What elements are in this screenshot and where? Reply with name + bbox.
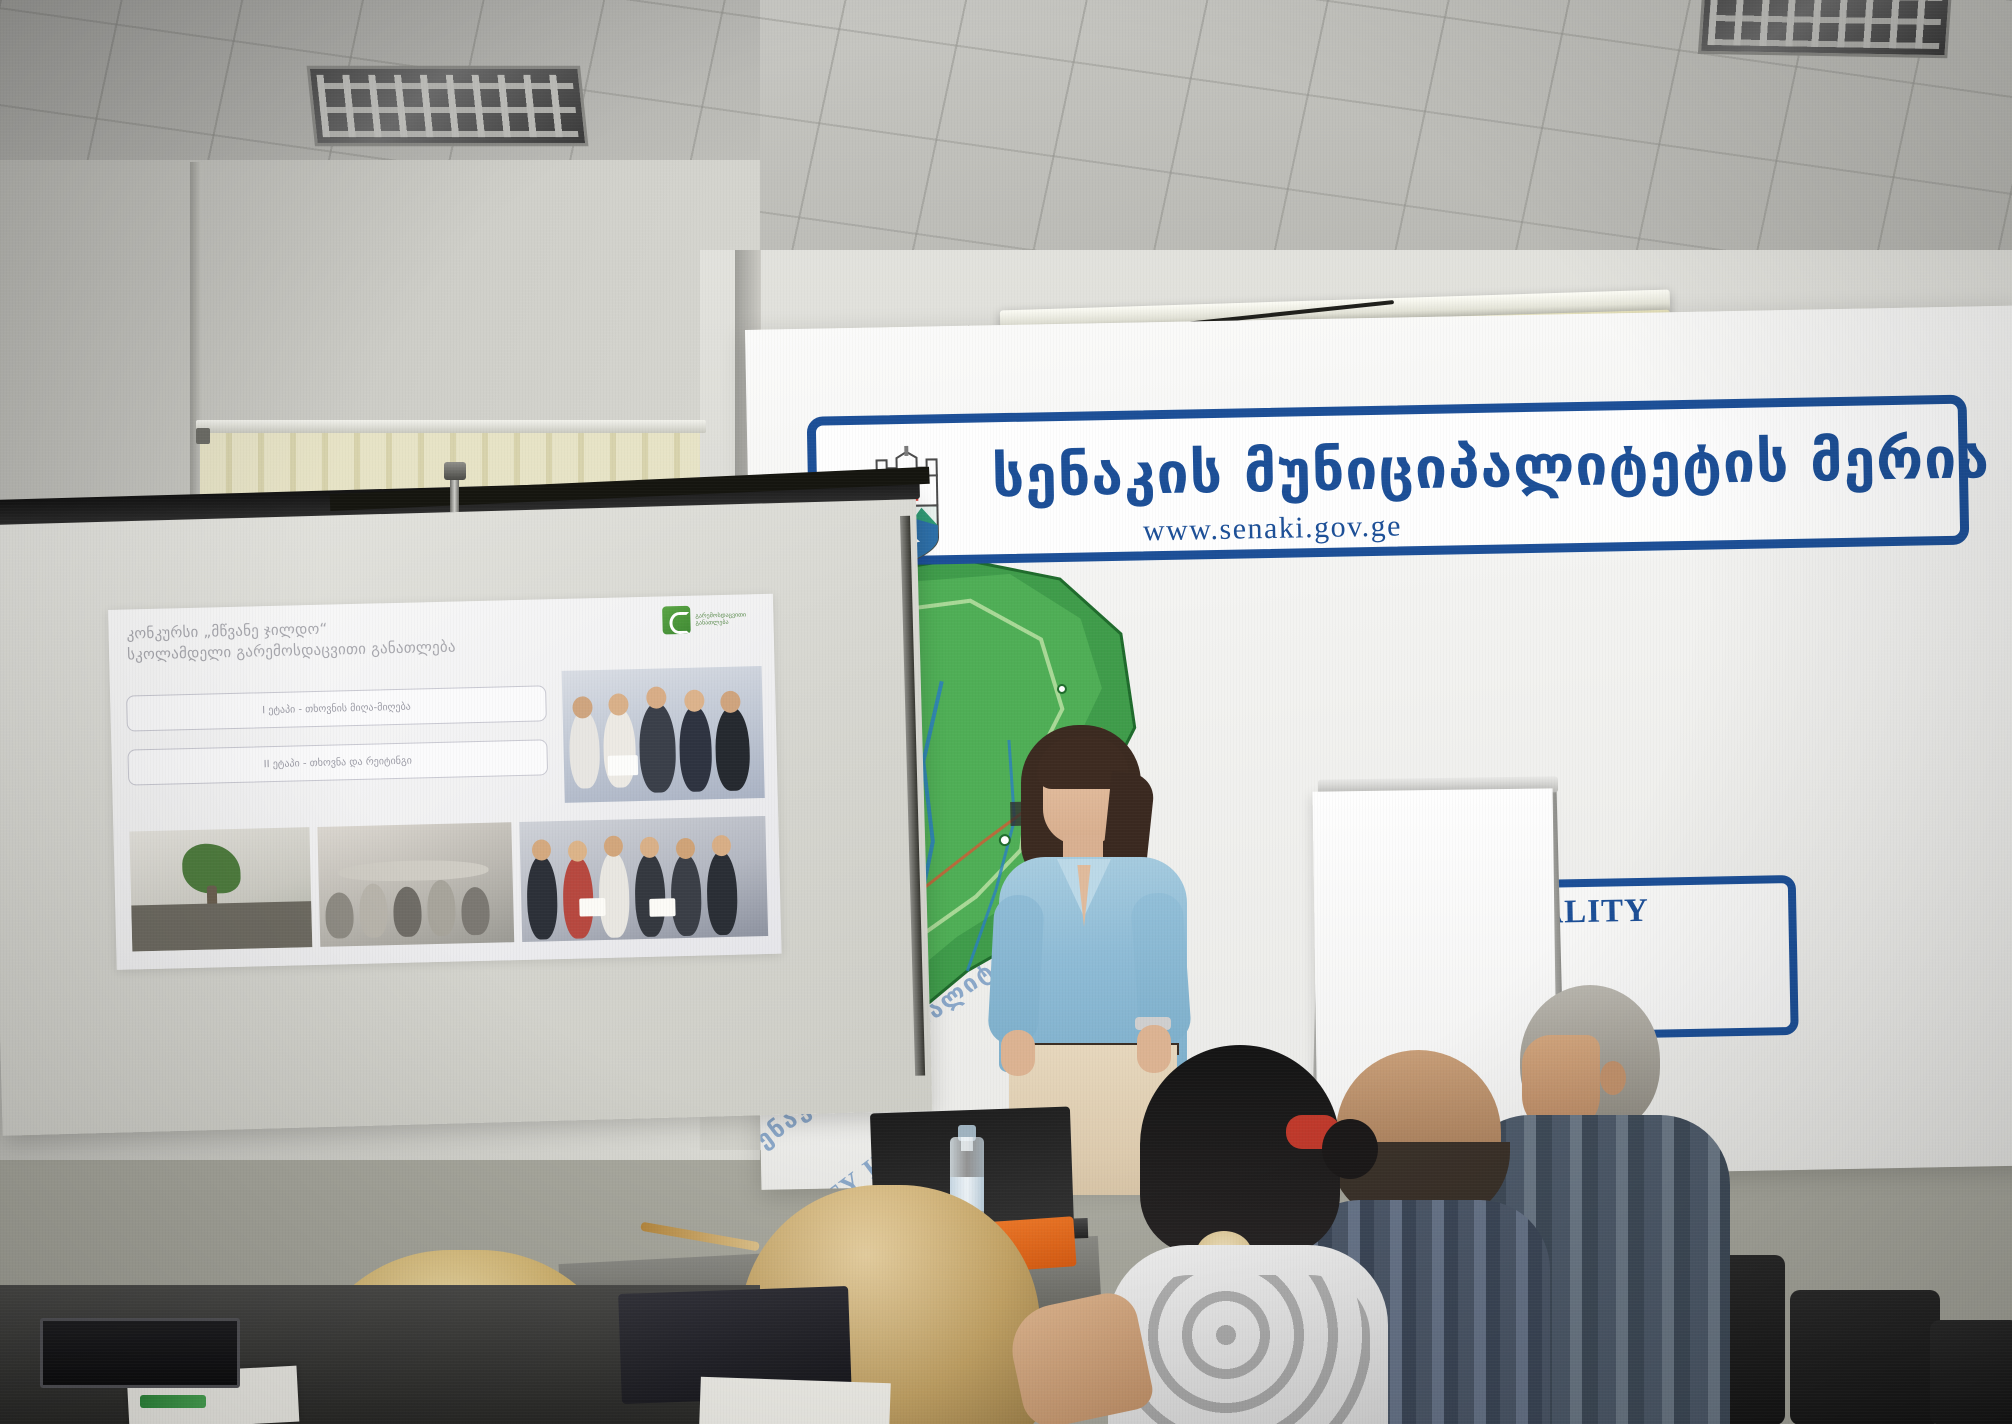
slide-photo-office-plant bbox=[129, 827, 312, 951]
projection-screen-pole-cap bbox=[444, 462, 466, 480]
banner-url: www.senaki.gov.ge bbox=[1143, 509, 1403, 548]
slide-photo-audience-hall bbox=[317, 822, 514, 947]
dark-woman-hair bbox=[1140, 1045, 1340, 1255]
monitor-edge bbox=[40, 1318, 240, 1388]
slide-stage-box-1-label: I ეტაპი - თხოვნის მიღა-მიღება bbox=[262, 701, 411, 716]
slide-photo-certificate-group bbox=[519, 816, 768, 942]
ceiling-light-panel-right bbox=[1698, 0, 1952, 58]
dark-woman-top-pattern bbox=[1130, 1275, 1370, 1424]
blinds-rail bbox=[196, 420, 706, 433]
banner-title-frame: სენაკის მუნიციპალიტეტის მერია www.senaki… bbox=[807, 395, 1970, 567]
conference-chair-right-3 bbox=[1930, 1320, 2012, 1424]
presentation-room-photo: SENAKI MUNICIPALITY სენაკის მუნიციპალიტე… bbox=[0, 0, 2012, 1424]
leaf-logo-icon bbox=[662, 606, 691, 635]
slide-stage-box-2: II ეტაპი - თხოვნა და რეიტინგი bbox=[127, 739, 548, 785]
dark-woman-bun bbox=[1322, 1119, 1378, 1179]
slide-logo-text: გარემოსდაცვითი განათლება bbox=[695, 611, 759, 628]
ceiling-light-panel-left bbox=[307, 66, 589, 146]
paper-stack-center bbox=[699, 1377, 891, 1424]
presenter-arm-left bbox=[987, 894, 1045, 1046]
slide-stage-box-2-label: II ეტაპი - თხოვნა და რეიტინგი bbox=[264, 755, 413, 770]
conference-chair-right-2 bbox=[1790, 1290, 1940, 1424]
slide-photo-award-group bbox=[562, 666, 765, 803]
banner-title: სენაკის მუნიციპალიტეტის მერია bbox=[991, 425, 1990, 510]
slide-logo: გარემოსდაცვითი განათლება bbox=[662, 604, 760, 634]
green-marker bbox=[140, 1395, 206, 1408]
presentation-slide: კონკურსი „მწვანე ჯილდო“ სკოლამდელი გარემ… bbox=[108, 594, 782, 970]
slide-stage-box-1: I ეტაპი - თხოვნის მიღა-მიღება bbox=[126, 685, 547, 731]
grey-man-ear bbox=[1600, 1061, 1626, 1095]
presenter-hand-left bbox=[1001, 1030, 1035, 1076]
blinds-knob[interactable] bbox=[196, 428, 210, 444]
